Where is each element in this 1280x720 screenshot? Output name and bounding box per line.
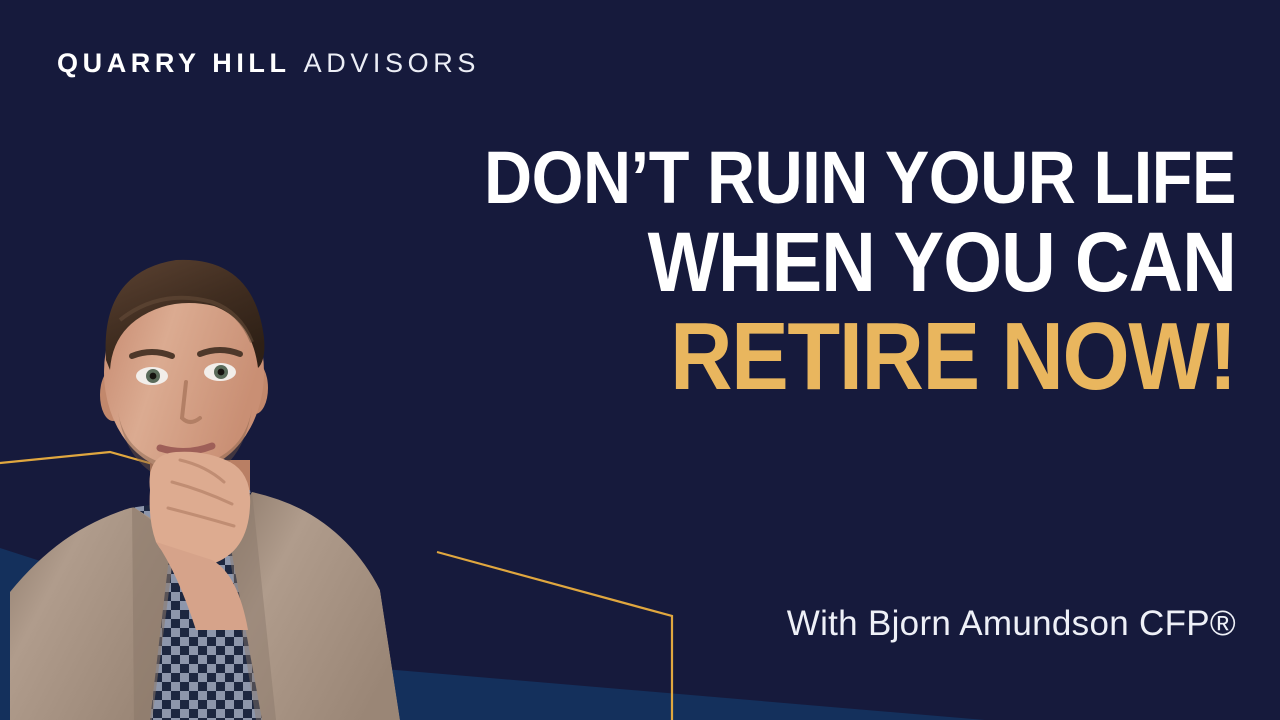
gold-accent-line-lower	[437, 552, 672, 720]
nose-shape	[182, 382, 200, 422]
shirt-shape	[105, 490, 290, 720]
video-thumbnail: QUARRY HILL ADVISORS DON’T RUIN YOUR LIF…	[0, 0, 1280, 720]
headline-line-3: RETIRE NOW!	[462, 311, 1236, 403]
brand-name-secondary: ADVISORS	[304, 48, 480, 79]
hair-texture-strand	[120, 298, 252, 342]
jacket-left-panel	[10, 506, 172, 720]
wrist-shape	[156, 542, 248, 630]
ear-right	[242, 362, 268, 414]
gold-accent-line-upper	[0, 452, 235, 487]
neck-shape	[150, 460, 250, 533]
iris-right	[214, 365, 228, 379]
finger-crease-1	[180, 460, 224, 482]
beard-stubble	[118, 408, 252, 484]
head-shape	[104, 272, 264, 472]
headline-line-2: WHEN YOU CAN	[462, 222, 1236, 303]
brand-logo: QUARRY HILL ADVISORS	[57, 48, 480, 79]
eyebrow-right	[200, 350, 240, 354]
finger-crease-3	[168, 508, 234, 526]
finger-crease-2	[172, 482, 232, 504]
pupil-left	[150, 373, 157, 380]
iris-left	[146, 369, 160, 383]
hand-shape	[150, 452, 251, 566]
ear-left	[100, 369, 126, 421]
mouth-shape	[160, 446, 212, 452]
hair-shape	[106, 260, 265, 370]
jacket-lapel-right	[226, 492, 276, 720]
jacket-right-panel	[228, 492, 400, 720]
eye-right-white	[204, 363, 236, 381]
jacket-lapel-left	[132, 506, 176, 720]
headline-block: DON’T RUIN YOUR LIFE WHEN YOU CAN RETIRE…	[376, 142, 1236, 403]
brand-name-primary: QUARRY HILL	[57, 48, 291, 79]
eye-left-white	[136, 367, 168, 385]
headline-line-1: DON’T RUIN YOUR LIFE	[462, 142, 1236, 213]
presenter-byline: With Bjorn Amundson CFP®	[787, 604, 1236, 644]
eyebrow-left	[132, 352, 172, 356]
pupil-right	[218, 369, 225, 376]
